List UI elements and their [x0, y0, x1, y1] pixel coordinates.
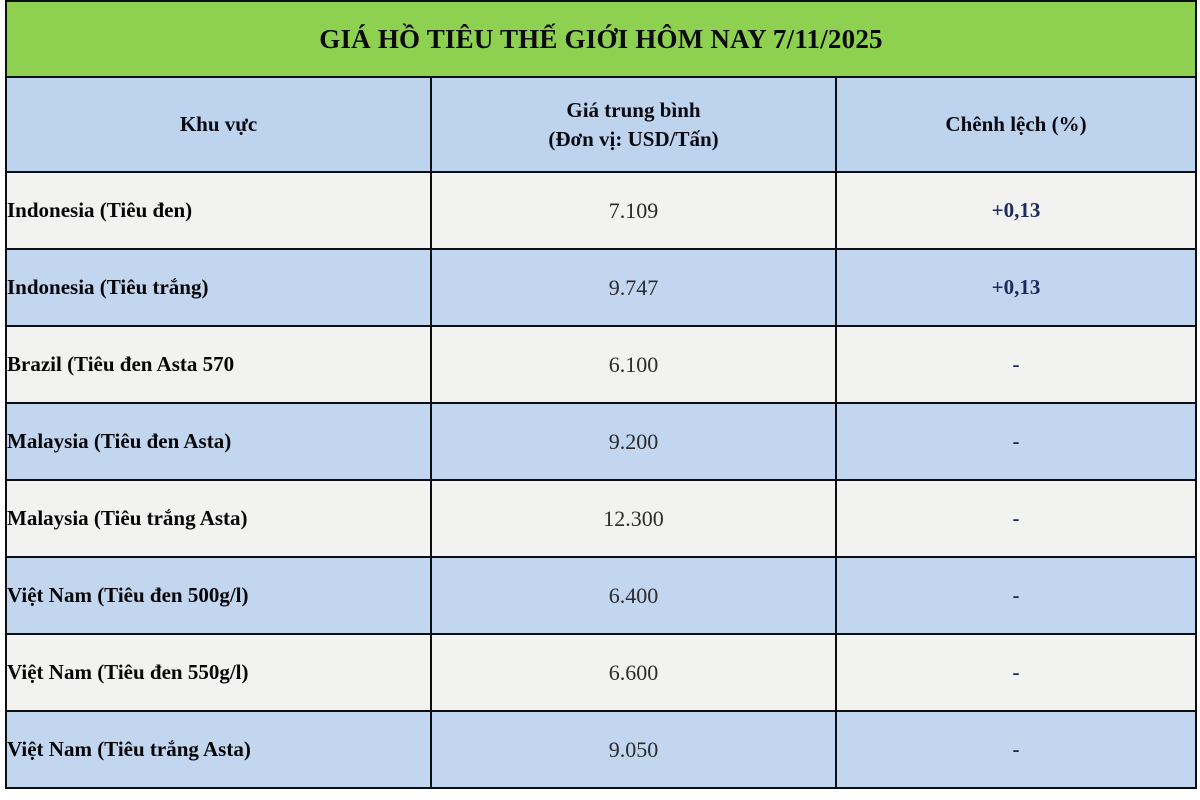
cell-change: - [836, 711, 1196, 788]
cell-price: 9.050 [431, 711, 836, 788]
column-header-price-sublabel: (Đơn vị: USD/Tấn) [432, 125, 835, 154]
cell-region: Việt Nam (Tiêu đen 550g/l) [6, 634, 431, 711]
table-row: Malaysia (Tiêu trắng Asta) 12.300 - [6, 480, 1196, 557]
cell-change: - [836, 634, 1196, 711]
column-header-change-label: Chênh lệch (%) [945, 112, 1086, 136]
table-row: Việt Nam (Tiêu đen 500g/l) 6.400 - [6, 557, 1196, 634]
cell-change: +0,13 [836, 172, 1196, 249]
table-row: Việt Nam (Tiêu trắng Asta) 9.050 - [6, 711, 1196, 788]
cell-region: Indonesia (Tiêu đen) [6, 172, 431, 249]
column-header-price-label: Giá trung bình [566, 98, 700, 122]
cell-change: - [836, 557, 1196, 634]
table-row: Việt Nam (Tiêu đen 550g/l) 6.600 - [6, 634, 1196, 711]
pepper-price-table: GIÁ HỒ TIÊU THẾ GIỚI HÔM NAY 7/11/2025 K… [5, 0, 1197, 789]
cell-price: 9.747 [431, 249, 836, 326]
column-header-region-label: Khu vực [180, 112, 257, 136]
cell-region: Việt Nam (Tiêu trắng Asta) [6, 711, 431, 788]
cell-change: - [836, 326, 1196, 403]
cell-change: - [836, 480, 1196, 557]
cell-price: 6.400 [431, 557, 836, 634]
column-header-region: Khu vực [6, 77, 431, 172]
cell-price: 12.300 [431, 480, 836, 557]
table-row: Malaysia (Tiêu đen Asta) 9.200 - [6, 403, 1196, 480]
page-title: GIÁ HỒ TIÊU THẾ GIỚI HÔM NAY 7/11/2025 [6, 1, 1196, 77]
table-row: Brazil (Tiêu đen Asta 570 6.100 - [6, 326, 1196, 403]
cell-region: Việt Nam (Tiêu đen 500g/l) [6, 557, 431, 634]
price-table-page: Doanh nghiệp & Thương hiệu GIÁ HỒ TIÊU T… [0, 0, 1200, 800]
cell-price: 6.600 [431, 634, 836, 711]
cell-change: +0,13 [836, 249, 1196, 326]
column-header-change: Chênh lệch (%) [836, 77, 1196, 172]
table-row: Indonesia (Tiêu trắng) 9.747 +0,13 [6, 249, 1196, 326]
cell-price: 7.109 [431, 172, 836, 249]
cell-region: Indonesia (Tiêu trắng) [6, 249, 431, 326]
cell-price: 6.100 [431, 326, 836, 403]
cell-price: 9.200 [431, 403, 836, 480]
column-header-price: Giá trung bình (Đơn vị: USD/Tấn) [431, 77, 836, 172]
title-row: GIÁ HỒ TIÊU THẾ GIỚI HÔM NAY 7/11/2025 [6, 1, 1196, 77]
cell-region: Brazil (Tiêu đen Asta 570 [6, 326, 431, 403]
cell-region: Malaysia (Tiêu trắng Asta) [6, 480, 431, 557]
header-row: Khu vực Giá trung bình (Đơn vị: USD/Tấn)… [6, 77, 1196, 172]
cell-change: - [836, 403, 1196, 480]
table-row: Indonesia (Tiêu đen) 7.109 +0,13 [6, 172, 1196, 249]
cell-region: Malaysia (Tiêu đen Asta) [6, 403, 431, 480]
